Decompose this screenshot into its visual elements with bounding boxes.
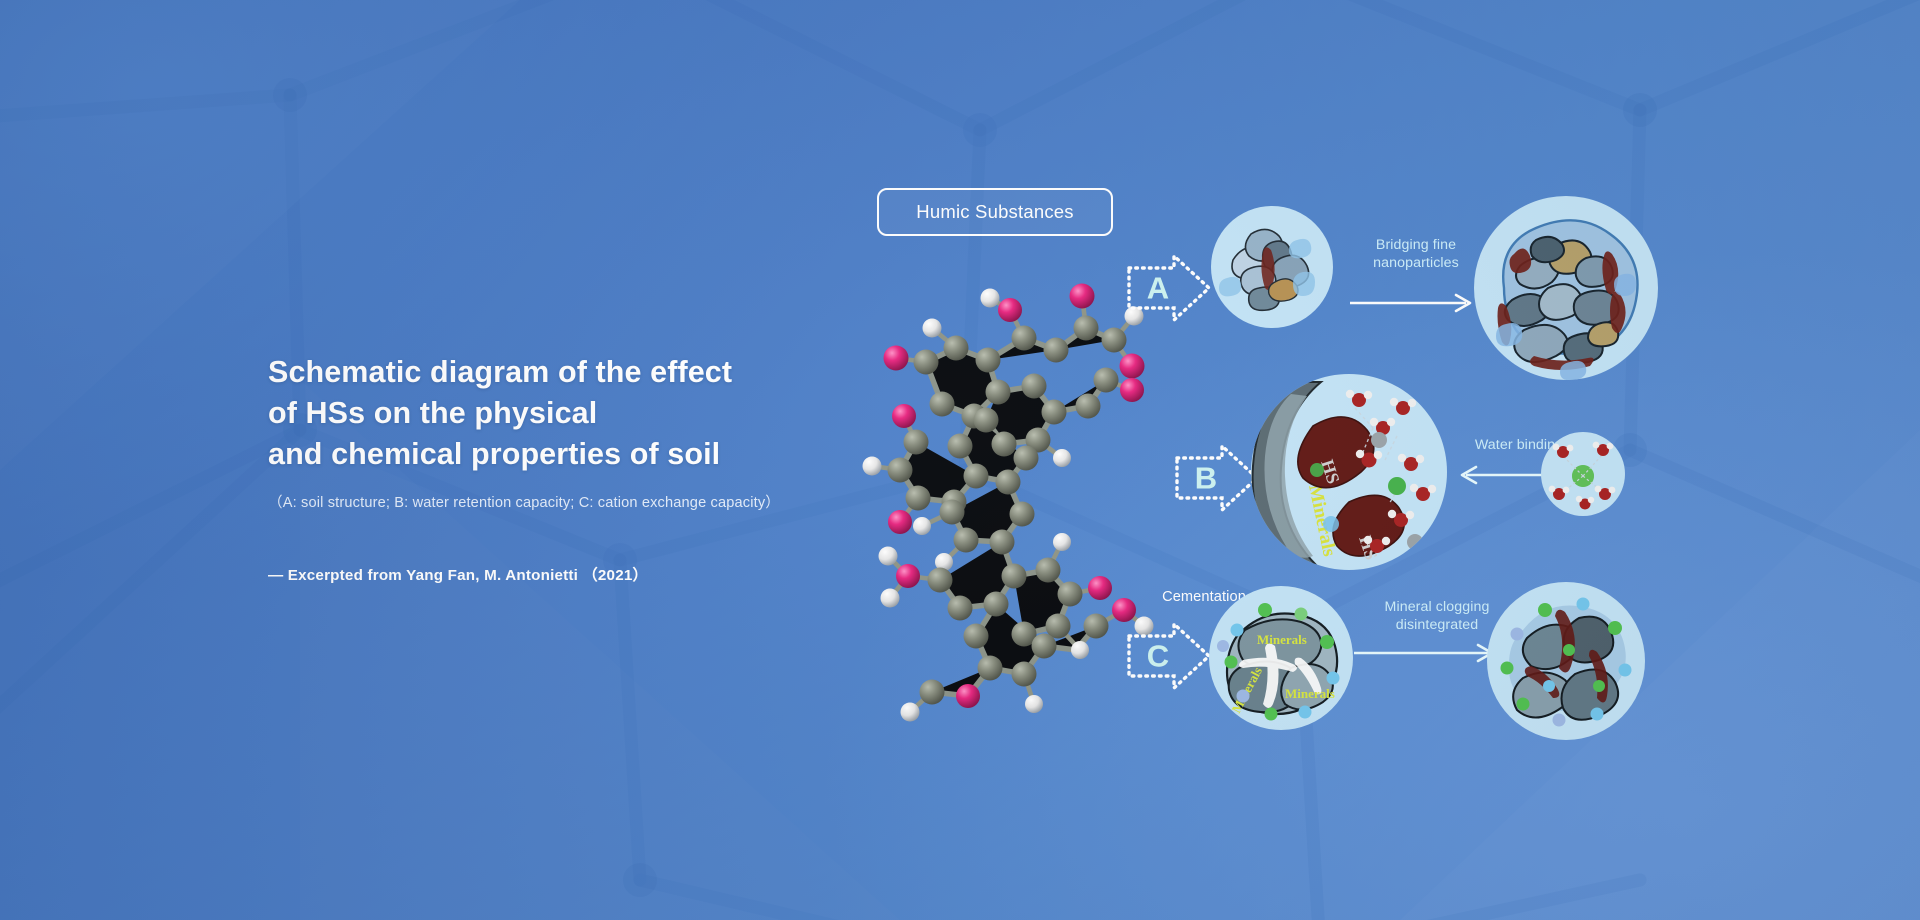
marker-letter-b: B xyxy=(1184,463,1228,494)
marker-letter-a: A xyxy=(1136,273,1180,304)
marker-letter-c: C xyxy=(1136,641,1180,672)
marker-letter-a-wrap: A xyxy=(1126,252,1212,324)
humic-substances-label-text: Humic Substances xyxy=(916,201,1073,223)
flow-label-c-text: Mineral clogging disintegrated xyxy=(1385,599,1490,633)
flow-label-a-text: Bridging fine nanoparticles xyxy=(1373,237,1459,271)
diagram-area: Humic Substances xyxy=(0,0,1920,920)
marker-letter-c-wrap: C xyxy=(1126,620,1212,692)
humic-substances-label: Humic Substances xyxy=(877,188,1113,236)
circle-mineral-disintegrated-cluster xyxy=(1487,582,1645,740)
circle-soil-aggregate-loose xyxy=(1211,206,1333,328)
circle-mineral-cemented-cluster: Minerals Minerals Minerals xyxy=(1209,586,1353,730)
inner-label-minerals-c2: Minerals xyxy=(1285,686,1335,701)
flow-arrow-c-right xyxy=(1352,642,1502,664)
marker-letter-b-wrap: B xyxy=(1174,442,1260,514)
circle-soil-aggregate-bridged xyxy=(1474,196,1658,380)
inner-label-minerals-c1: Minerals xyxy=(1257,632,1307,647)
circle-water-molecule-cluster xyxy=(1541,432,1625,516)
flow-arrow-a-right xyxy=(1348,292,1480,314)
circle-humic-substance-water-complex: Minerals HS HS xyxy=(1251,374,1447,570)
flow-label-a: Bridging fine nanoparticles xyxy=(1346,236,1486,272)
infographic-canvas: Schematic diagram of the effect of HSs o… xyxy=(0,0,1920,920)
